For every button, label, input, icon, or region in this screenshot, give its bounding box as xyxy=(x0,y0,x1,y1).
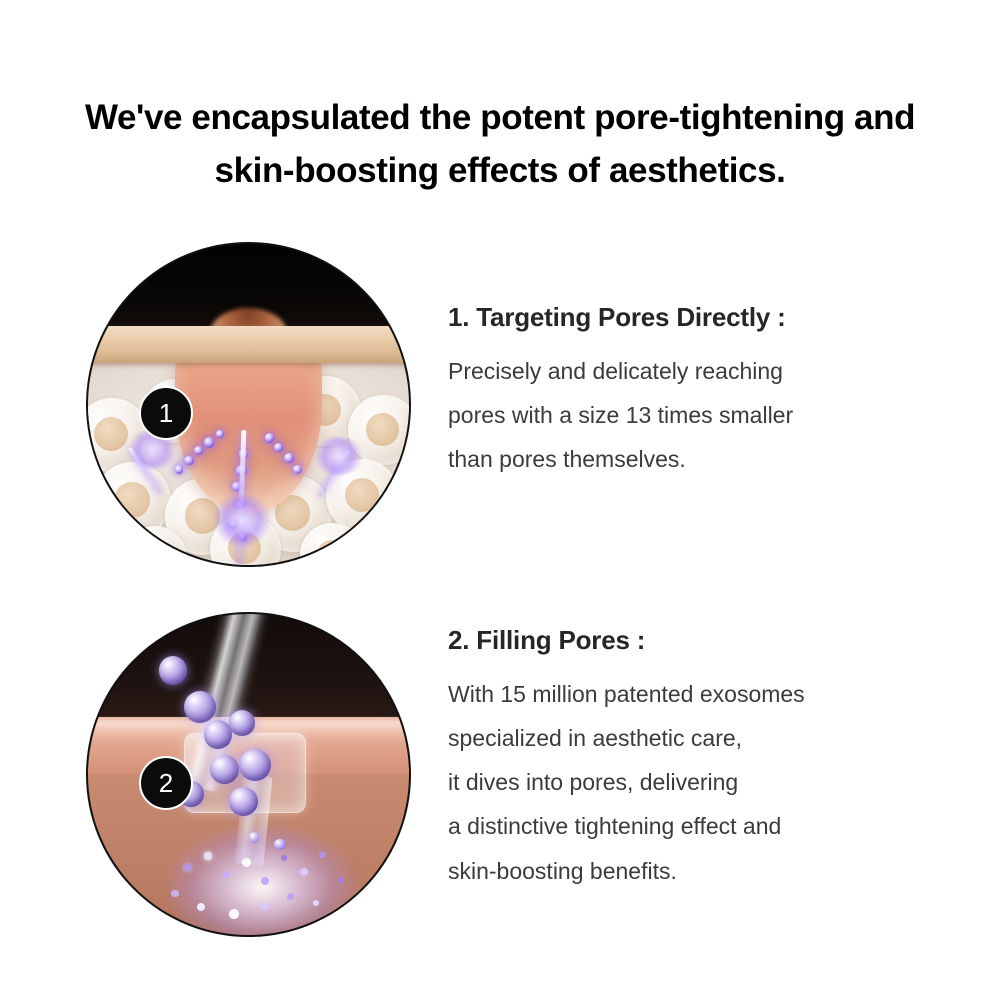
feature-2-body-line: With 15 million patented exosomes xyxy=(448,672,968,716)
exosome-sphere xyxy=(210,755,239,784)
exosome-particle xyxy=(265,433,275,443)
feature-1-media: 1 xyxy=(86,242,411,567)
feature-1-title: 1. Targeting Pores Directly : xyxy=(448,302,968,333)
burst-dot xyxy=(171,890,178,897)
feature-2-body: With 15 million patented exosomes specia… xyxy=(448,672,968,893)
infographic-page: We've encapsulated the potent pore-tight… xyxy=(0,0,1000,1000)
glow-spot xyxy=(313,437,364,476)
burst-dot xyxy=(229,909,239,919)
burst-dot xyxy=(223,871,230,878)
exosome-particle xyxy=(284,453,294,463)
pore-illustration-icon xyxy=(86,242,411,567)
headline-line-2: skin-boosting effects of aesthetics. xyxy=(18,145,982,198)
injector-illustration-icon xyxy=(86,612,411,937)
burst-dot xyxy=(319,852,325,858)
exosome-sphere xyxy=(159,656,188,685)
feature-2-media: 2 xyxy=(86,612,411,937)
feature-1-body: Precisely and delicately reaching pores … xyxy=(448,349,968,481)
feature-2-title: 2. Filling Pores : xyxy=(448,625,968,656)
page-headline: We've encapsulated the potent pore-tight… xyxy=(0,92,1000,197)
exosome-sphere xyxy=(204,720,233,749)
feature-2-body-line: specialized in aesthetic care, xyxy=(448,716,968,760)
exosome-particle xyxy=(204,437,215,448)
feature-1-text: 1. Targeting Pores Directly : Precisely … xyxy=(448,302,968,481)
feature-1-body-line: than pores themselves. xyxy=(448,437,968,481)
feature-block-2: 2 2. Filling Pores : With 15 million pat… xyxy=(0,610,1000,940)
exosome-particle xyxy=(216,430,224,438)
burst-dot xyxy=(274,839,286,851)
feature-2-body-line: skin-boosting benefits. xyxy=(448,849,968,893)
scene2-exosome-burst xyxy=(159,813,384,937)
burst-dot xyxy=(261,903,269,911)
burst-dot xyxy=(261,877,269,885)
burst-dot xyxy=(281,855,287,861)
step-badge-1: 1 xyxy=(139,386,193,440)
burst-dot xyxy=(184,864,190,870)
headline-line-1: We've encapsulated the potent pore-tight… xyxy=(18,92,982,145)
exosome-particle xyxy=(175,465,183,473)
feature-2-text: 2. Filling Pores : With 15 million paten… xyxy=(448,625,968,893)
exosome-sphere xyxy=(229,710,255,736)
feature-1-body-line: Precisely and delicately reaching xyxy=(448,349,968,393)
burst-dot xyxy=(242,858,251,867)
burst-dot xyxy=(300,868,308,876)
feature-2-body-line: it dives into pores, delivering xyxy=(448,760,968,804)
exosome-sphere xyxy=(239,749,271,781)
glow-spot xyxy=(213,494,271,545)
step-badge-2: 2 xyxy=(139,756,193,810)
burst-dot xyxy=(204,852,212,860)
burst-dot xyxy=(249,832,259,842)
feature-1-body-line: pores with a size 13 times smaller xyxy=(448,393,968,437)
feature-block-1: 1 1. Targeting Pores Directly : Precisel… xyxy=(0,240,1000,570)
feature-2-body-line: a distinctive tightening effect and xyxy=(448,804,968,848)
scene1-skin-surface xyxy=(86,326,411,363)
